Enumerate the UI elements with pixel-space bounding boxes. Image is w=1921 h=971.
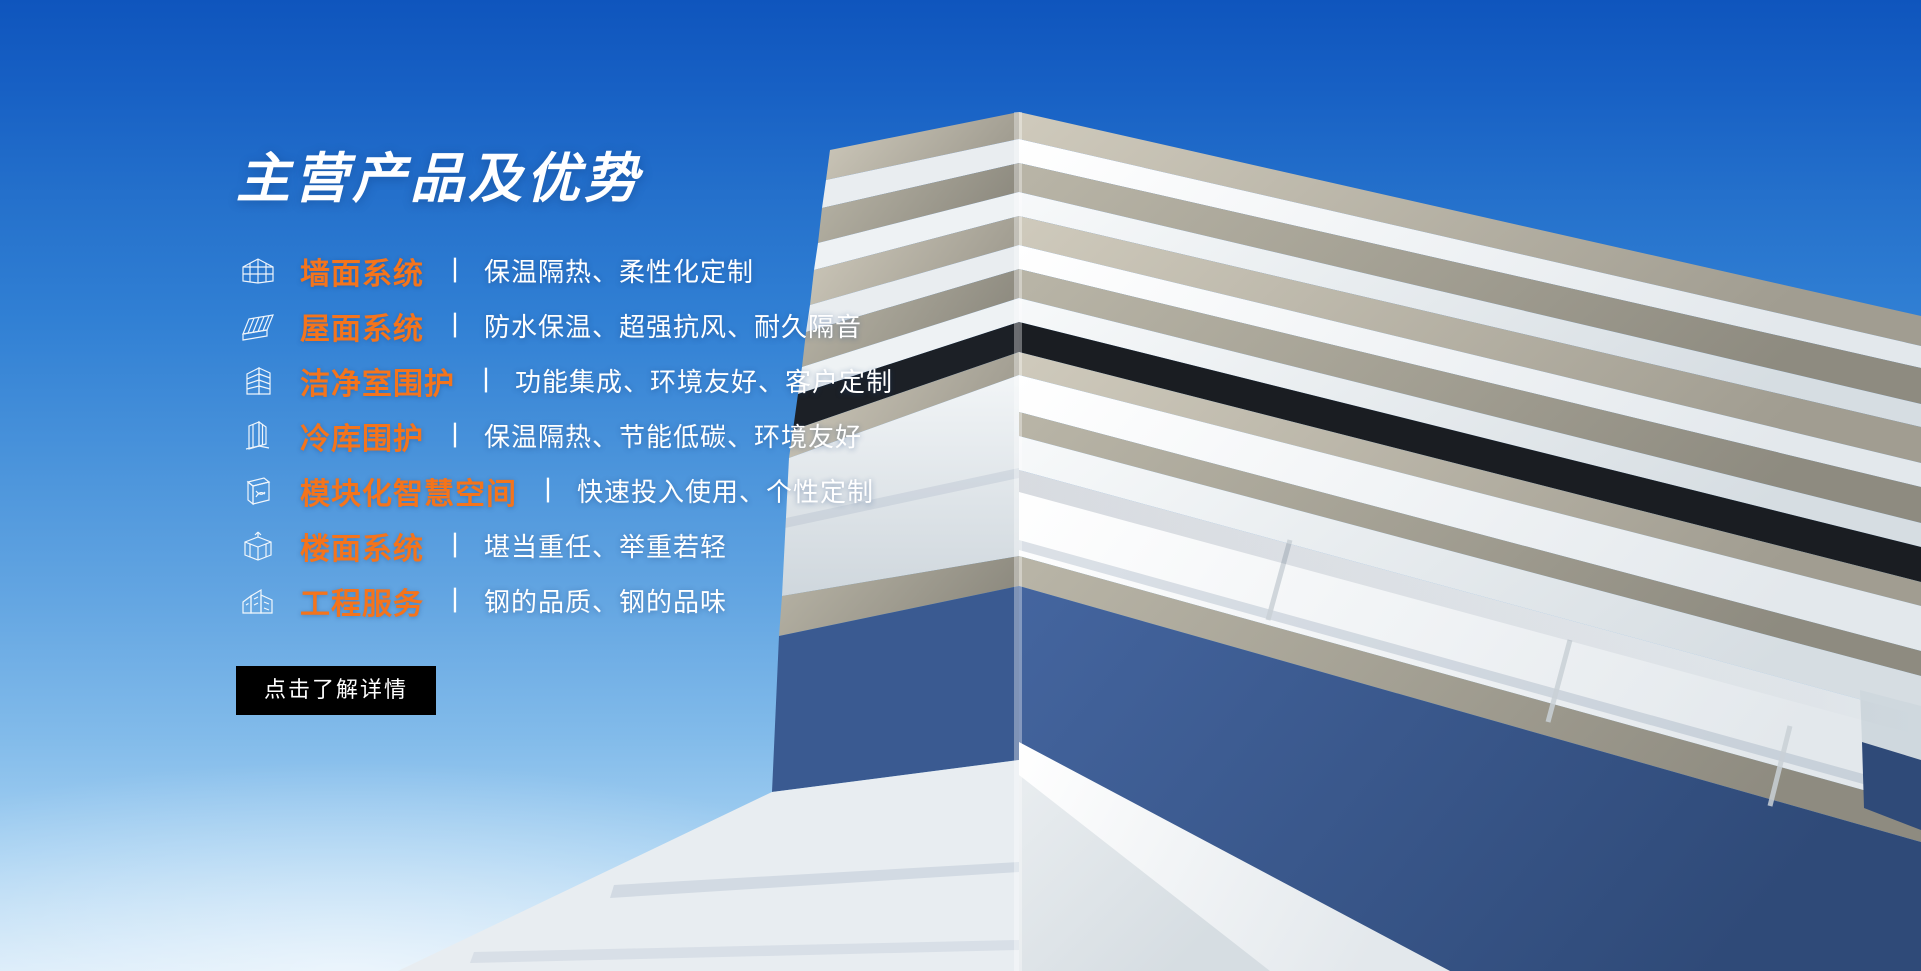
product-title: 墙面系统	[300, 249, 424, 293]
page-title: 主营产品及优势	[236, 150, 1036, 209]
product-list: 墙面系统 丨 保温隔热、柔性化定制 屋面系统 丨 防水	[236, 243, 1036, 628]
banner-content: 主营产品及优势 墙面系统 丨 保温隔热、柔性化定制	[236, 150, 1036, 715]
wall-panel-icon	[236, 251, 280, 291]
list-item[interactable]: 楼面系统 丨 堪当重任、举重若轻	[236, 518, 1036, 573]
product-desc: 堪当重任、举重若轻	[484, 527, 727, 564]
separator: 丨	[476, 368, 496, 394]
separator: 丨	[445, 588, 465, 614]
product-desc: 保温隔热、节能低碳、环境友好	[484, 417, 862, 454]
list-item[interactable]: 工程服务 丨 钢的品质、钢的品味	[236, 573, 1036, 628]
list-item[interactable]: 冷库围护 丨 保温隔热、节能低碳、环境友好	[236, 408, 1036, 463]
cleanroom-icon	[236, 361, 280, 401]
modular-space-icon	[236, 471, 280, 511]
product-desc: 快速投入使用、个性定制	[577, 472, 874, 509]
product-title: 楼面系统	[300, 524, 424, 568]
separator: 丨	[445, 258, 465, 284]
floor-deck-icon	[236, 526, 280, 566]
list-item[interactable]: 屋面系统 丨 防水保温、超强抗风、耐久隔音	[236, 298, 1036, 353]
product-desc: 防水保温、超强抗风、耐久隔音	[484, 307, 862, 344]
engineering-icon	[236, 581, 280, 621]
product-desc: 功能集成、环境友好、客户定制	[515, 362, 893, 399]
separator: 丨	[445, 313, 465, 339]
product-title: 工程服务	[300, 579, 424, 623]
list-item[interactable]: 洁净室围护 丨 功能集成、环境友好、客户定制	[236, 353, 1036, 408]
list-item[interactable]: 模块化智慧空间 丨 快速投入使用、个性定制	[236, 463, 1036, 518]
product-title: 洁净室围护	[300, 359, 455, 403]
product-title: 冷库围护	[300, 414, 424, 458]
coldstorage-icon	[236, 416, 280, 456]
learn-more-button[interactable]: 点击了解详情	[236, 666, 436, 715]
separator: 丨	[538, 478, 558, 504]
left-face-lower-white	[398, 760, 1019, 971]
list-item[interactable]: 墙面系统 丨 保温隔热、柔性化定制	[236, 243, 1036, 298]
separator: 丨	[445, 423, 465, 449]
roof-panel-icon	[236, 306, 280, 346]
separator: 丨	[445, 533, 465, 559]
product-desc: 钢的品质、钢的品味	[484, 582, 727, 619]
product-desc: 保温隔热、柔性化定制	[484, 252, 754, 289]
product-title: 屋面系统	[300, 304, 424, 348]
product-title: 模块化智慧空间	[300, 469, 517, 513]
promo-banner: 主营产品及优势 墙面系统 丨 保温隔热、柔性化定制	[0, 0, 1921, 971]
